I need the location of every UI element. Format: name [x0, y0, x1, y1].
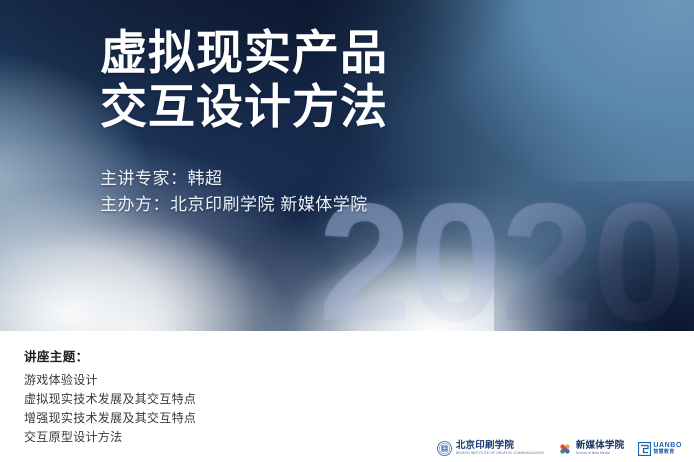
uanbo-wordmark: UANBO 智慧教育	[653, 442, 682, 455]
pinwheel-icon	[558, 442, 572, 456]
hero-banner: 2020 虚拟现实产品 交互设计方法 主讲专家：韩超 主办方：北京印刷学院 新媒…	[0, 0, 694, 331]
logo-bigc: 北京印刷学院 BEIJING INSTITUTE OF GRAPHIC COMM…	[437, 441, 544, 456]
logo-cn-text: UANBO	[653, 442, 682, 449]
organizer-line: 主办方：北京印刷学院 新媒体学院	[100, 192, 368, 218]
info-panel: 讲座主题： 游戏体验设计 虚拟现实技术发展及其交互特点 增强现实技术发展及其交互…	[0, 331, 694, 462]
bigc-seal-icon	[437, 441, 452, 456]
logo-en-text: BEIJING INSTITUTE OF GRAPHIC COMMUNICATI…	[456, 452, 544, 455]
title-line-1: 虚拟现实产品	[100, 26, 388, 80]
logo-en-text: School of New Media	[576, 452, 625, 455]
list-item: 增强现实技术发展及其交互特点	[24, 409, 196, 428]
uanbo-mark-icon	[638, 442, 651, 456]
speaker-line: 主讲专家：韩超	[100, 166, 368, 192]
topic-list: 游戏体验设计 虚拟现实技术发展及其交互特点 增强现实技术发展及其交互特点 交互原…	[24, 371, 196, 447]
logo-cn-text: 新媒体学院	[576, 441, 625, 451]
lecture-poster: 2020 虚拟现实产品 交互设计方法 主讲专家：韩超 主办方：北京印刷学院 新媒…	[0, 0, 694, 462]
logo-school-of-new-media: 新媒体学院 School of New Media	[558, 441, 625, 455]
logo-row: 北京印刷学院 BEIJING INSTITUTE OF GRAPHIC COMM…	[437, 441, 682, 456]
list-item: 游戏体验设计	[24, 371, 196, 390]
poster-title: 虚拟现实产品 交互设计方法	[100, 26, 388, 134]
list-item: 虚拟现实技术发展及其交互特点	[24, 390, 196, 409]
topics-heading: 讲座主题：	[24, 346, 89, 365]
logo-uanbo: UANBO 智慧教育	[638, 442, 682, 456]
bigc-wordmark: 北京印刷学院 BEIJING INSTITUTE OF GRAPHIC COMM…	[456, 441, 544, 455]
list-item: 交互原型设计方法	[24, 428, 196, 447]
logo-cn-text: 北京印刷学院	[456, 441, 544, 451]
poster-meta: 主讲专家：韩超 主办方：北京印刷学院 新媒体学院	[100, 166, 368, 218]
snm-wordmark: 新媒体学院 School of New Media	[576, 441, 625, 455]
logo-en-text: 智慧教育	[653, 450, 682, 455]
year-watermark: 2020	[318, 178, 684, 331]
title-line-2: 交互设计方法	[100, 80, 388, 134]
